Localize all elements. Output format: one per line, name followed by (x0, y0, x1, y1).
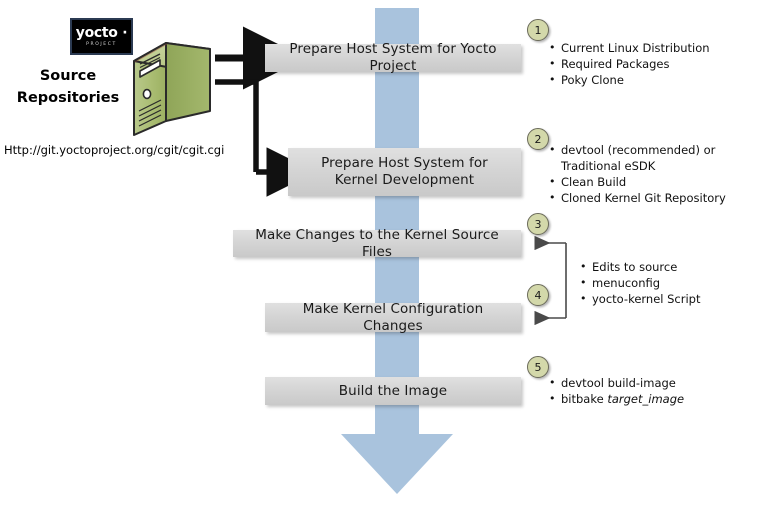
step-bullets-5: devtool build-image bitbake target_image (549, 375, 684, 407)
source-repositories-url: Http://git.yoctoproject.org/cgit/cgit.cg… (4, 143, 224, 157)
bullet-item: Required Packages (549, 56, 710, 72)
bullet-text: bitbake (561, 392, 607, 406)
step-box-3[interactable]: Make Changes to the Kernel Source Files (233, 230, 521, 257)
flow-spine-arrowhead (341, 434, 453, 494)
bullet-item: devtool (recommended) or (549, 142, 726, 158)
step-badge-2-number: 2 (535, 133, 542, 146)
bullet-item: Clean Build (549, 174, 726, 190)
step-bullets-1: Current Linux Distribution Required Pack… (549, 40, 710, 88)
bullet-item: Poky Clone (549, 72, 710, 88)
step-badge-4: 4 (527, 284, 549, 306)
shared-bullets-steps-3-4: Edits to source menuconfig yocto-kernel … (580, 259, 701, 307)
step-badge-4-number: 4 (535, 289, 542, 302)
bullet-text-italic: target_image (607, 392, 684, 406)
server-icon (130, 33, 216, 138)
step-bullets-2: devtool (recommended) or Traditional eSD… (549, 142, 726, 206)
source-label-line1: Source (8, 65, 128, 87)
step-box-3-label: Make Changes to the Kernel Source Files (243, 227, 511, 261)
step-box-1[interactable]: Prepare Host System for Yocto Project (265, 44, 521, 72)
bullet-continuation: Traditional eSDK (549, 158, 726, 174)
step-box-5[interactable]: Build the Image (265, 377, 521, 405)
step-box-2[interactable]: Prepare Host System for Kernel Developme… (288, 148, 521, 196)
bullet-item: menuconfig (580, 275, 701, 291)
yocto-logo-subtext: PROJECT (86, 41, 117, 48)
yocto-logo: yocto · PROJECT (70, 18, 133, 55)
bullet-item: yocto-kernel Script (580, 291, 701, 307)
step-badge-1-number: 1 (535, 24, 542, 37)
step-box-1-label: Prepare Host System for Yocto Project (275, 41, 511, 75)
step-badge-3-number: 3 (535, 218, 542, 231)
step-badge-3: 3 (527, 213, 549, 235)
step-badge-1: 1 (527, 19, 549, 41)
step-box-2-label: Prepare Host System for Kernel Developme… (298, 155, 511, 189)
step-badge-2: 2 (527, 128, 549, 150)
source-label-line2: Repositories (8, 87, 128, 109)
step-badge-5-number: 5 (535, 361, 542, 374)
step-badge-5: 5 (527, 356, 549, 378)
diagram-canvas: yocto · PROJECT Source Repositories Http… (0, 0, 769, 517)
step-box-4-label: Make Kernel Configuration Changes (275, 301, 511, 335)
bullet-item: Cloned Kernel Git Repository (549, 190, 726, 206)
step-box-4[interactable]: Make Kernel Configuration Changes (265, 303, 521, 332)
step-box-5-label: Build the Image (339, 383, 447, 400)
bullet-item: devtool build-image (549, 375, 684, 391)
yocto-logo-wordmark: yocto · (76, 26, 127, 40)
bullet-item: Current Linux Distribution (549, 40, 710, 56)
bullet-item: bitbake target_image (549, 391, 684, 407)
bullet-item: Edits to source (580, 259, 701, 275)
source-repositories-label: Source Repositories (8, 65, 128, 109)
